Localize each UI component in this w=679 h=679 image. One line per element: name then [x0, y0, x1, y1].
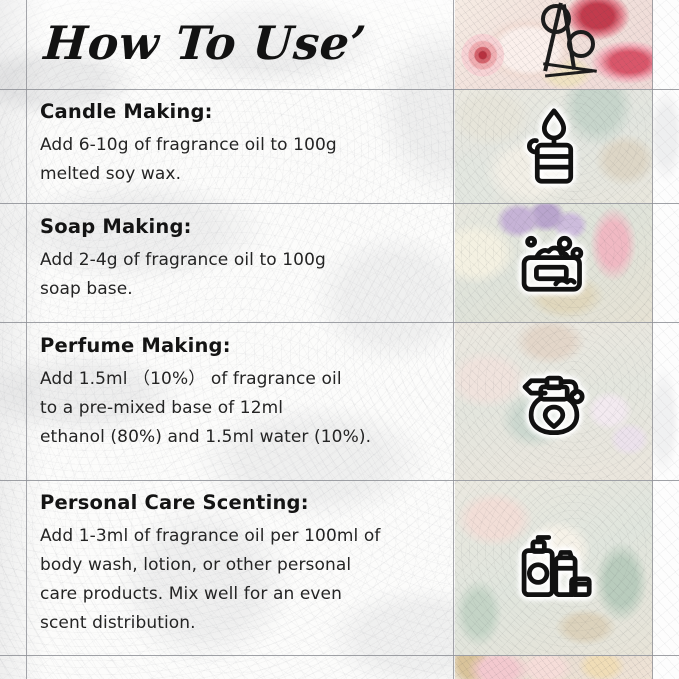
candle-icon: [510, 102, 598, 190]
body-line: ethanol (80%) and 1.5ml water (10%).: [40, 423, 440, 452]
soap-bar-icon: [510, 218, 598, 306]
section-heading-perfume-making: Perfume Making:: [40, 334, 440, 358]
section-body-soap-making: Add 2-4g of fragrance oil to 100g soap b…: [40, 246, 440, 304]
artwork-faded-edge: [653, 0, 679, 679]
section-body-personal-care-scenting: Add 1-3ml of fragrance oil per 100ml of …: [40, 522, 440, 638]
page-title: How To Use’: [42, 12, 369, 74]
divider-rule-2: [0, 203, 679, 204]
divider-rule-4: [0, 480, 679, 481]
section-heading-candle-making: Candle Making:: [40, 100, 440, 124]
content-artwork-divider-rule: [453, 0, 454, 679]
section-body-candle-making: Add 6-10g of fragrance oil to 100g melte…: [40, 131, 440, 189]
perfume-atomizer-icon: [510, 357, 598, 445]
section-perfume-making: Perfume Making: Add 1.5ml （10%） of fragr…: [40, 334, 440, 452]
left-border-rule: [26, 0, 27, 679]
body-line: care products. Mix well for an even: [40, 580, 440, 609]
body-line: Add 6-10g of fragrance oil to 100g: [40, 131, 440, 160]
body-line: melted soy wax.: [40, 160, 440, 189]
body-line: Add 1.5ml （10%） of fragrance oil: [40, 365, 440, 394]
section-heading-personal-care-scenting: Personal Care Scenting:: [40, 491, 440, 515]
body-line: Add 1-3ml of fragrance oil per 100ml of: [40, 522, 440, 551]
how-to-use-infographic: How To Use’ Candle Making: Add 6-10g of …: [0, 0, 679, 679]
divider-rule-1: [0, 89, 679, 90]
lotion-bottle-tube-icon: [510, 519, 598, 607]
section-candle-making: Candle Making: Add 6-10g of fragrance oi…: [40, 100, 440, 189]
body-line: to a pre-mixed base of 12ml: [40, 394, 440, 423]
body-line: scent distribution.: [40, 609, 440, 638]
divider-rule-5: [0, 655, 679, 656]
section-heading-soap-making: Soap Making:: [40, 215, 440, 239]
body-line: body wash, lotion, or other personal: [40, 551, 440, 580]
artwork-cell-footer-roses: [455, 656, 653, 679]
body-line: soap base.: [40, 275, 440, 304]
right-border-rule: [652, 0, 653, 679]
divider-rule-3: [0, 322, 679, 323]
section-personal-care-scenting: Personal Care Scenting: Add 1-3ml of fra…: [40, 491, 440, 638]
section-soap-making: Soap Making: Add 2-4g of fragrance oil t…: [40, 215, 440, 304]
artwork-cell-roses-and-scissors: [455, 0, 653, 89]
section-body-perfume-making: Add 1.5ml （10%） of fragrance oil to a pr…: [40, 365, 440, 452]
body-line: Add 2-4g of fragrance oil to 100g: [40, 246, 440, 275]
